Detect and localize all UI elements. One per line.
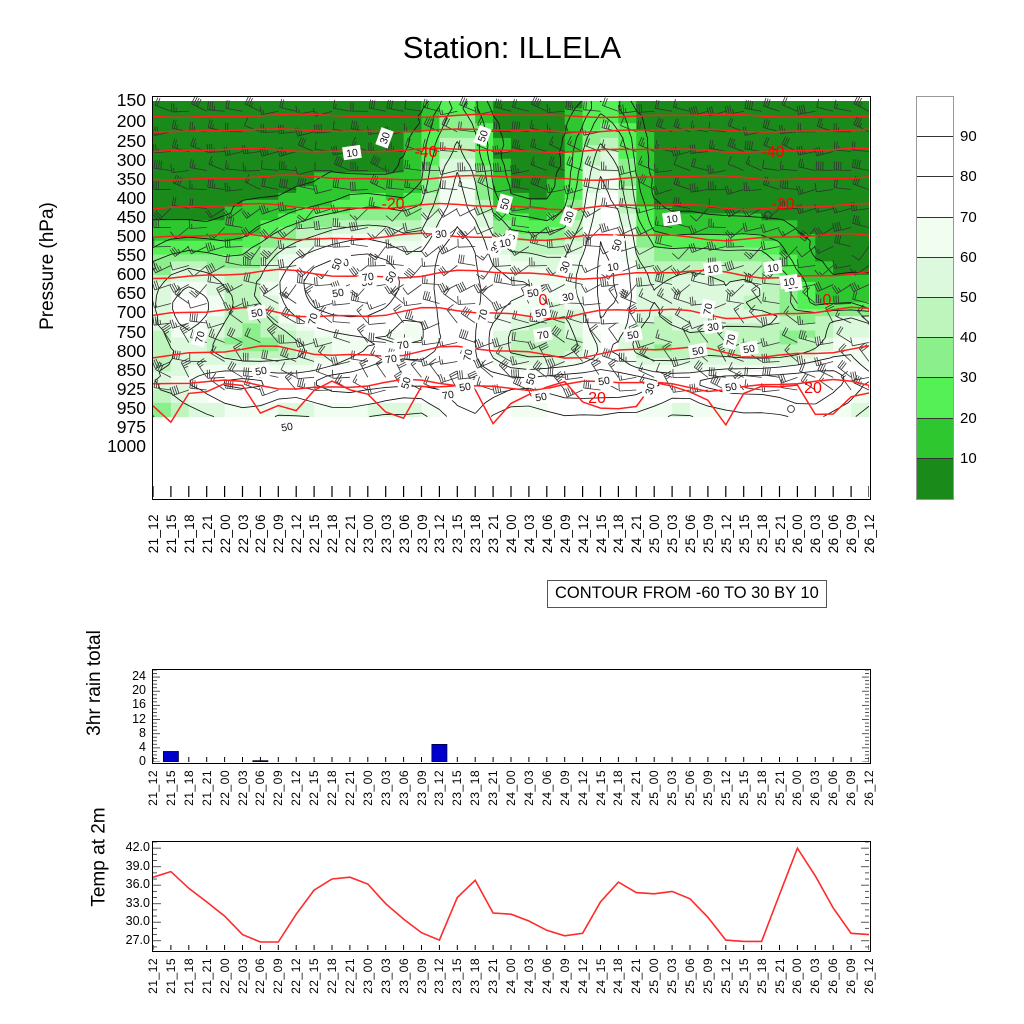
time-tick-label: 23_00 xyxy=(361,770,375,806)
svg-text:10: 10 xyxy=(766,262,779,276)
colorbar-tick-label: 30 xyxy=(960,369,977,386)
rain-panel xyxy=(152,669,871,764)
humidity-colorbar xyxy=(916,96,954,500)
rain-tick-label: 24 xyxy=(132,670,146,683)
time-tick-label: 25_03 xyxy=(665,958,679,994)
time-tick-label: 21_21 xyxy=(200,958,214,994)
svg-text:70: 70 xyxy=(384,353,398,367)
time-tick-label: 23_21 xyxy=(486,958,500,994)
wind-barb xyxy=(601,316,618,324)
time-tick-label: 24_12 xyxy=(576,514,591,553)
time-tick-label: 22_00 xyxy=(218,770,232,806)
profile-plot-svg: 3050105030503010503010103030501030501030… xyxy=(153,97,869,498)
time-tick-label: 25_09 xyxy=(701,958,715,994)
time-tick-label: 25_18 xyxy=(755,770,769,806)
time-tick-label: 23_18 xyxy=(468,514,483,553)
svg-text:70: 70 xyxy=(361,271,375,285)
wind-barb xyxy=(458,254,475,265)
time-tick-label: 24_00 xyxy=(504,514,519,553)
time-tick-label: 25_12 xyxy=(719,770,733,806)
wind-barb xyxy=(423,291,439,304)
time-tick-label: 22_15 xyxy=(307,770,321,806)
wind-barb xyxy=(420,320,439,330)
wind-barb xyxy=(456,282,475,293)
time-tick-label: 22_21 xyxy=(343,958,357,994)
colorbar-band xyxy=(917,378,953,418)
colorbar-tick-label: 20 xyxy=(960,410,977,427)
svg-text:50: 50 xyxy=(250,307,264,321)
wind-barb xyxy=(492,301,511,311)
time-tick-label: 24_06 xyxy=(540,770,554,806)
wind-barb xyxy=(367,301,386,309)
time-tick-label: 26_06 xyxy=(826,958,840,994)
time-tick-label: 26_00 xyxy=(790,770,804,806)
wind-barb xyxy=(458,239,475,247)
pressure-tick-label: 750 xyxy=(117,324,146,342)
time-tick-label: 24_15 xyxy=(594,514,609,553)
time-tick-label: 25_00 xyxy=(647,514,662,553)
isotherm-label: 20 xyxy=(804,380,822,397)
humidity-contour-label: 50 xyxy=(594,373,614,389)
time-tick-label: 26_03 xyxy=(808,514,823,553)
humidity-contour-label: 70 xyxy=(438,387,458,403)
colorbar-tick-label: 80 xyxy=(960,168,977,185)
time-tick-label: 22_21 xyxy=(343,514,358,553)
time-tick-label: 24_12 xyxy=(576,958,590,994)
wind-barb xyxy=(609,324,619,343)
time-tick-label: 23_03 xyxy=(379,514,394,553)
isotherm-label: -40 xyxy=(761,144,784,161)
time-axis-labels-rain: 21_1221_1521_1821_2122_0022_0322_0622_09… xyxy=(152,768,871,826)
time-tick-label: 24_21 xyxy=(629,958,643,994)
pressure-tick-label: 150 xyxy=(117,92,146,110)
humidity-contour-label: 70 xyxy=(304,308,322,329)
wind-barb xyxy=(481,286,493,304)
wind-barb xyxy=(429,359,439,378)
pressure-tick-label: 200 xyxy=(117,113,146,131)
time-tick-label: 22_21 xyxy=(343,770,357,806)
svg-text:50: 50 xyxy=(534,391,548,405)
time-tick-label: 25_12 xyxy=(719,958,733,994)
wind-barb xyxy=(387,255,404,265)
time-tick-label: 23_00 xyxy=(361,514,376,553)
wind-barb xyxy=(621,289,637,304)
wind-barb xyxy=(351,350,368,361)
svg-text:10: 10 xyxy=(345,147,358,161)
time-tick-label: 22_18 xyxy=(325,514,340,553)
pressure-tick-label: 1000 xyxy=(107,438,146,456)
pressure-tick-label: 400 xyxy=(117,190,146,208)
wind-barb xyxy=(459,329,475,343)
time-tick-label: 22_15 xyxy=(307,514,322,553)
colorbar-tick-label: 10 xyxy=(960,450,977,467)
time-tick-label: 23_18 xyxy=(468,958,482,994)
pressure-tick-label: 650 xyxy=(117,285,146,303)
time-tick-label: 24_12 xyxy=(576,770,590,806)
pressure-tick-label: 975 xyxy=(117,419,146,437)
temp-panel xyxy=(152,841,871,952)
colorbar-band xyxy=(917,459,953,499)
time-tick-label: 25_18 xyxy=(755,958,769,994)
wind-barb xyxy=(838,360,851,377)
time-tick-label: 22_06 xyxy=(253,958,267,994)
time-tick-label: 24_21 xyxy=(629,770,643,806)
time-tick-label: 25_15 xyxy=(737,514,752,553)
rain-tick-label: 4 xyxy=(139,741,146,754)
pressure-tick-label: 600 xyxy=(117,266,146,284)
colorbar-band xyxy=(917,419,953,459)
time-tick-label: 22_03 xyxy=(236,514,251,553)
wind-barb xyxy=(313,299,332,308)
svg-text:50: 50 xyxy=(254,365,268,379)
time-tick-label: 23_21 xyxy=(486,514,501,553)
wind-barb xyxy=(282,287,296,304)
time-axis-labels-profile: 21_1221_1521_1821_2122_0022_0322_0622_09… xyxy=(152,512,871,580)
time-tick-label: 22_06 xyxy=(253,770,267,806)
colorbar-band xyxy=(917,258,953,298)
humidity-profile-panel: 3050105030503010503010103030501030501030… xyxy=(152,96,871,500)
pressure-tick-label: 300 xyxy=(117,152,146,170)
time-tick-label: 24_18 xyxy=(611,770,625,806)
humidity-contour-label: 30 xyxy=(431,226,451,242)
humidity-contour-label: 50 xyxy=(328,285,348,301)
rain-tick-label: 16 xyxy=(132,698,146,711)
time-tick-label: 26_09 xyxy=(844,958,858,994)
colorbar-tick-label: 90 xyxy=(960,128,977,145)
wind-barb xyxy=(619,383,636,391)
time-tick-label: 22_09 xyxy=(271,514,286,553)
svg-text:30: 30 xyxy=(561,291,575,305)
humidity-contour-label: 30 xyxy=(641,378,659,399)
wind-barb xyxy=(474,339,493,349)
colorbar-band xyxy=(917,338,953,378)
humidity-contour-label: 70 xyxy=(381,351,401,367)
wind-barb xyxy=(279,285,296,299)
time-tick-label: 21_21 xyxy=(200,770,214,806)
time-tick-label: 23_03 xyxy=(379,770,393,806)
time-tick-label: 23_06 xyxy=(397,770,411,806)
time-tick-label: 25_18 xyxy=(755,514,770,553)
wind-barb xyxy=(564,388,583,398)
time-tick-label: 22_18 xyxy=(325,958,339,994)
wind-barb xyxy=(447,304,457,323)
time-tick-label: 21_12 xyxy=(146,770,160,806)
wind-barb xyxy=(618,372,636,380)
isotherm-label: 20 xyxy=(588,390,606,407)
colorbar-labels: 102030405060708090 xyxy=(960,96,1020,500)
isotherm-label: -40 xyxy=(414,144,437,161)
time-tick-label: 21_15 xyxy=(164,770,178,806)
colorbar-tick-label: 60 xyxy=(960,249,977,266)
svg-text:50: 50 xyxy=(597,375,611,389)
wind-barb xyxy=(391,286,404,303)
wind-barb xyxy=(565,371,583,379)
time-tick-label: 23_15 xyxy=(450,958,464,994)
svg-text:50: 50 xyxy=(331,287,345,301)
time-tick-label: 25_21 xyxy=(773,770,787,806)
wind-barb xyxy=(456,209,475,217)
wind-barb xyxy=(368,316,386,324)
time-tick-label: 21_18 xyxy=(182,514,197,553)
time-tick-label: 22_03 xyxy=(236,770,250,806)
svg-text:10: 10 xyxy=(782,276,795,290)
time-tick-label: 22_00 xyxy=(218,958,232,994)
colorbar-tick-label: 70 xyxy=(960,209,977,226)
time-tick-label: 24_03 xyxy=(522,514,537,553)
svg-text:-40: -40 xyxy=(414,144,437,161)
time-tick-label: 25_12 xyxy=(719,514,734,553)
time-tick-label: 24_06 xyxy=(540,514,555,553)
svg-text:50: 50 xyxy=(691,345,705,359)
time-tick-label: 22_09 xyxy=(271,770,285,806)
temp-tick-label: 27.0 xyxy=(126,934,150,947)
wind-barb xyxy=(367,386,386,395)
calm-wind-symbol xyxy=(788,406,795,413)
time-tick-label: 24_06 xyxy=(540,958,554,994)
isotherm-label: 0 xyxy=(539,292,548,309)
wind-barb xyxy=(357,305,368,323)
svg-text:-20: -20 xyxy=(771,196,794,213)
time-tick-label: 23_12 xyxy=(432,514,447,553)
time-tick-label: 26_09 xyxy=(844,770,858,806)
wind-barb xyxy=(438,374,457,383)
svg-text:10: 10 xyxy=(498,237,512,251)
time-tick-label: 24_18 xyxy=(611,958,625,994)
wind-barb xyxy=(319,306,332,323)
svg-text:10: 10 xyxy=(606,261,619,275)
time-tick-label: 23_06 xyxy=(397,958,411,994)
svg-text:30: 30 xyxy=(434,228,447,242)
rain-plot-svg xyxy=(153,670,869,762)
time-tick-label: 21_21 xyxy=(200,514,215,553)
pressure-axis-title: Pressure (hPa) xyxy=(37,156,59,376)
page-title: Station: ILLELA xyxy=(0,30,1024,66)
wind-barb xyxy=(439,356,457,364)
temp-axis-labels: 27.030.033.036.039.042.0 xyxy=(100,834,150,959)
time-tick-label: 25_00 xyxy=(647,958,661,994)
pressure-tick-label: 350 xyxy=(117,171,146,189)
humidity-contour-label: 50 xyxy=(397,372,415,393)
pressure-tick-label: 925 xyxy=(117,381,146,399)
time-tick-label: 24_15 xyxy=(594,770,608,806)
time-tick-label: 25_21 xyxy=(773,958,787,994)
temp-tick-label: 33.0 xyxy=(126,897,150,910)
svg-text:50: 50 xyxy=(280,421,294,435)
wind-barb xyxy=(369,247,386,261)
svg-text:50: 50 xyxy=(458,381,472,395)
time-tick-label: 23_12 xyxy=(432,770,446,806)
time-tick-label: 26_12 xyxy=(862,958,876,994)
wind-barb xyxy=(584,314,601,323)
rain-bar xyxy=(163,751,178,762)
time-tick-label: 24_21 xyxy=(629,514,644,553)
time-tick-label: 24_00 xyxy=(504,958,518,994)
isotherm-label: -20 xyxy=(381,196,404,213)
time-tick-label: 22_00 xyxy=(218,514,233,553)
time-tick-label: 23_15 xyxy=(450,514,465,553)
time-axis-labels-temp: 21_1221_1521_1821_2122_0022_0322_0622_09… xyxy=(152,956,871,1014)
time-tick-label: 22_12 xyxy=(289,770,303,806)
svg-text:50: 50 xyxy=(626,329,640,343)
pressure-tick-label: 950 xyxy=(117,400,146,418)
time-tick-label: 26_03 xyxy=(808,958,822,994)
rain-tick-label: 0 xyxy=(139,755,146,768)
humidity-contour-label: 50 xyxy=(277,419,297,435)
time-tick-label: 23_12 xyxy=(432,958,446,994)
time-tick-label: 26_03 xyxy=(808,770,822,806)
time-tick-label: 24_18 xyxy=(611,514,626,553)
pressure-tick-label: 700 xyxy=(117,304,146,322)
time-tick-label: 22_12 xyxy=(289,514,304,553)
wind-barb xyxy=(600,278,618,287)
wind-barb xyxy=(600,223,619,232)
pressure-tick-label: 550 xyxy=(117,247,146,265)
time-tick-label: 26_00 xyxy=(790,514,805,553)
wind-barb xyxy=(664,371,672,390)
svg-text:70: 70 xyxy=(396,339,410,353)
svg-text:50: 50 xyxy=(742,343,756,357)
svg-text:0: 0 xyxy=(823,292,832,309)
time-tick-label: 26_06 xyxy=(826,770,840,806)
time-tick-label: 25_00 xyxy=(647,770,661,806)
time-tick-label: 25_06 xyxy=(683,770,697,806)
colorbar-band xyxy=(917,97,953,137)
colorbar-tick-label: 50 xyxy=(960,289,977,306)
wind-barb xyxy=(461,306,475,323)
time-tick-label: 26_12 xyxy=(862,770,876,806)
rain-bar xyxy=(253,761,268,762)
time-tick-label: 25_03 xyxy=(665,770,679,806)
time-tick-label: 24_09 xyxy=(558,514,573,553)
time-tick-label: 22_15 xyxy=(307,958,321,994)
wind-barb xyxy=(333,313,350,323)
time-tick-label: 26_06 xyxy=(826,514,841,553)
svg-text:70: 70 xyxy=(536,329,550,343)
svg-text:-20: -20 xyxy=(381,196,404,213)
svg-text:-40: -40 xyxy=(761,144,784,161)
wind-barb xyxy=(404,297,422,305)
time-tick-label: 24_03 xyxy=(522,958,536,994)
temp-tick-label: 39.0 xyxy=(126,860,150,873)
time-tick-label: 26_12 xyxy=(862,514,877,553)
colorbar-band xyxy=(917,298,953,338)
time-tick-label: 22_18 xyxy=(325,770,339,806)
time-tick-label: 21_18 xyxy=(182,770,196,806)
wind-barb xyxy=(385,285,404,294)
time-tick-label: 24_09 xyxy=(558,770,572,806)
time-tick-label: 23_06 xyxy=(397,514,412,553)
time-tick-label: 23_09 xyxy=(415,958,429,994)
colorbar-band xyxy=(917,218,953,258)
time-tick-label: 25_09 xyxy=(701,770,715,806)
svg-text:10: 10 xyxy=(706,263,719,277)
wind-barb xyxy=(188,300,207,308)
rain-bar xyxy=(432,744,447,762)
wind-barb xyxy=(438,209,457,218)
weather-profile-figure: Station: ILLELA Pressure (hPa) 150200250… xyxy=(0,0,1024,1024)
svg-text:30: 30 xyxy=(706,321,719,335)
time-tick-label: 22_12 xyxy=(289,958,303,994)
isotherm-label: 0 xyxy=(823,292,832,309)
humidity-contour-label: 50 xyxy=(455,379,475,395)
temp-tick-label: 36.0 xyxy=(126,878,150,891)
time-tick-label: 23_03 xyxy=(379,958,393,994)
time-tick-label: 21_12 xyxy=(146,958,160,994)
wind-barb xyxy=(314,277,332,286)
svg-text:70: 70 xyxy=(441,389,455,403)
time-tick-label: 26_09 xyxy=(844,514,859,553)
rain-tick-label: 8 xyxy=(139,727,146,740)
time-tick-label: 25_15 xyxy=(737,958,751,994)
time-tick-label: 23_09 xyxy=(415,770,429,806)
wind-barb xyxy=(583,228,601,240)
time-tick-label: 25_03 xyxy=(665,514,680,553)
time-tick-label: 22_09 xyxy=(271,958,285,994)
svg-text:0: 0 xyxy=(539,292,548,309)
time-tick-label: 25_21 xyxy=(773,514,788,553)
time-tick-label: 25_06 xyxy=(683,514,698,553)
wind-barb xyxy=(458,296,475,304)
temp-tick-label: 30.0 xyxy=(126,915,150,928)
rain-tick-label: 20 xyxy=(132,684,146,697)
time-tick-label: 25_09 xyxy=(701,514,716,553)
colorbar-band xyxy=(917,137,953,177)
time-tick-label: 23_15 xyxy=(450,770,464,806)
time-tick-label: 23_21 xyxy=(486,770,500,806)
time-tick-label: 24_15 xyxy=(594,958,608,994)
temperature-line xyxy=(153,848,869,942)
pressure-tick-label: 500 xyxy=(117,228,146,246)
wind-barb xyxy=(421,336,439,344)
time-tick-label: 21_15 xyxy=(164,514,179,553)
temp-tick-label: 42.0 xyxy=(126,841,150,854)
wind-barb xyxy=(403,285,422,295)
time-tick-label: 22_03 xyxy=(236,958,250,994)
isotherm-label: -20 xyxy=(771,196,794,213)
humidity-contour-label: 50 xyxy=(721,379,741,395)
time-tick-label: 23_09 xyxy=(415,514,430,553)
time-tick-label: 24_00 xyxy=(504,770,518,806)
time-tick-label: 24_09 xyxy=(558,958,572,994)
wind-barb xyxy=(584,237,601,246)
time-tick-label: 23_18 xyxy=(468,770,482,806)
wind-barb xyxy=(818,362,833,377)
svg-text:50: 50 xyxy=(724,381,738,395)
humidity-contour-label: 10 xyxy=(603,259,623,275)
colorbar-band xyxy=(917,177,953,217)
time-tick-label: 21_18 xyxy=(182,958,196,994)
pressure-tick-label: 250 xyxy=(117,133,146,151)
pressure-tick-label: 450 xyxy=(117,209,146,227)
contour-note: CONTOUR FROM -60 TO 30 BY 10 xyxy=(547,580,827,608)
pressure-axis-labels: 1502002503003504004505005506006507007508… xyxy=(96,88,146,508)
humidity-contour-label: 70 xyxy=(459,345,476,365)
svg-text:10: 10 xyxy=(665,213,678,227)
temp-plot-svg xyxy=(153,842,869,950)
time-tick-label: 24_03 xyxy=(522,770,536,806)
time-tick-label: 21_15 xyxy=(164,958,178,994)
time-tick-label: 23_00 xyxy=(361,958,375,994)
colorbar-tick-label: 40 xyxy=(960,329,977,346)
time-tick-label: 25_06 xyxy=(683,958,697,994)
pressure-tick-label: 850 xyxy=(117,362,146,380)
time-tick-label: 25_15 xyxy=(737,770,751,806)
wind-barb xyxy=(477,377,493,390)
time-tick-label: 22_06 xyxy=(253,514,268,553)
axis-tick-layer xyxy=(153,486,869,497)
time-tick-label: 26_00 xyxy=(790,958,804,994)
wind-barb xyxy=(493,384,511,393)
